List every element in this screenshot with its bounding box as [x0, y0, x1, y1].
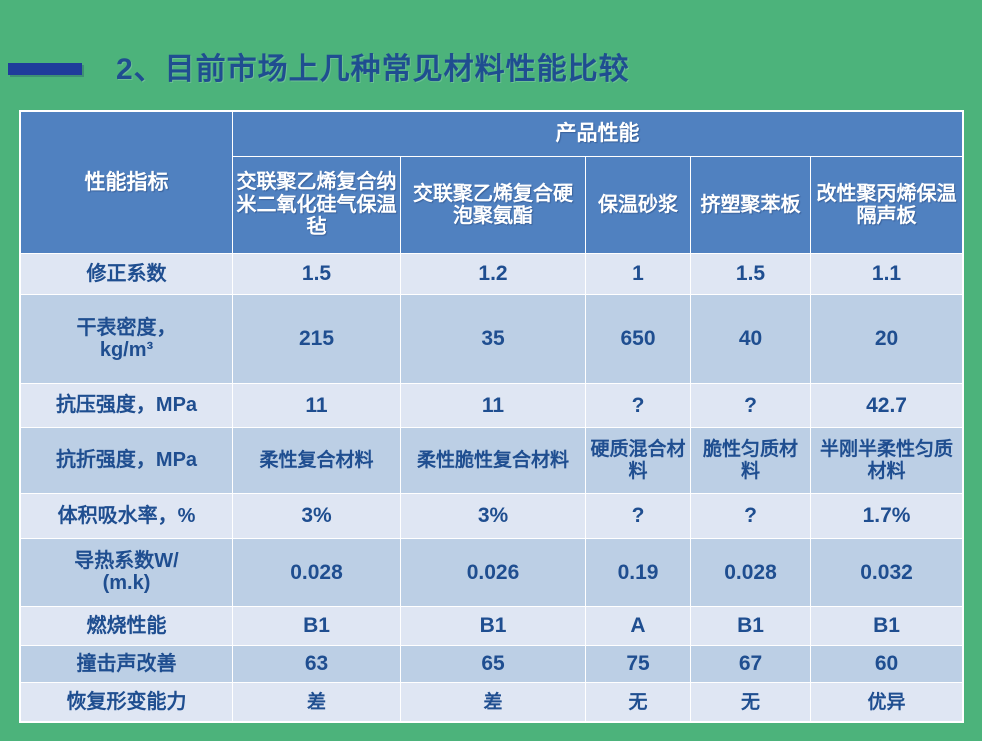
table-row: 抗压强度，MPa1111??42.7 — [21, 384, 963, 428]
table-row: 恢复形变能力差差无无优异 — [21, 683, 963, 722]
table-row: 修正系数1.51.211.51.1 — [21, 254, 963, 295]
table-cell: 脆性匀质材料 — [691, 427, 811, 493]
table-body: 修正系数1.51.211.51.1干表密度，kg/m³215356504020抗… — [21, 254, 963, 722]
table-cell: ? — [691, 384, 811, 428]
row-metric-label: 导热系数W/(m.k) — [21, 538, 233, 606]
table-cell: 0.19 — [586, 538, 691, 606]
table-cell: A — [586, 606, 691, 645]
table-cell: B1 — [401, 606, 586, 645]
header-col-5: 改性聚丙烯保温隔声板 — [811, 157, 963, 254]
table-cell: 1.2 — [401, 254, 586, 295]
header-col-2: 交联聚乙烯复合硬泡聚氨酯 — [401, 157, 586, 254]
table-cell: 63 — [233, 645, 401, 683]
row-metric-label: 干表密度，kg/m³ — [21, 294, 233, 384]
table-cell: 无 — [586, 683, 691, 722]
table-cell: 35 — [401, 294, 586, 384]
table-cell: 0.032 — [811, 538, 963, 606]
table-cell: B1 — [691, 606, 811, 645]
table-cell: 650 — [586, 294, 691, 384]
table-cell: 差 — [401, 683, 586, 722]
table-cell: 1 — [586, 254, 691, 295]
table-cell: 3% — [233, 494, 401, 539]
header-col-3: 保温砂浆 — [586, 157, 691, 254]
table-row: 燃烧性能B1B1AB1B1 — [21, 606, 963, 645]
table-cell: 0.028 — [691, 538, 811, 606]
row-metric-label: 燃烧性能 — [21, 606, 233, 645]
table-cell: 215 — [233, 294, 401, 384]
table-cell: 75 — [586, 645, 691, 683]
table-row: 撞击声改善6365756760 — [21, 645, 963, 683]
header-col-4: 挤塑聚苯板 — [691, 157, 811, 254]
title-row: 2、目前市场上几种常见材料性能比较 — [0, 48, 982, 96]
table-cell: 60 — [811, 645, 963, 683]
table-cell: 65 — [401, 645, 586, 683]
table-cell: ? — [691, 494, 811, 539]
row-metric-label: 修正系数 — [21, 254, 233, 295]
row-metric-label: 抗折强度，MPa — [21, 427, 233, 493]
table-cell: 3% — [401, 494, 586, 539]
row-metric-label: 体积吸水率，% — [21, 494, 233, 539]
table-cell: 柔性脆性复合材料 — [401, 427, 586, 493]
table-cell: ? — [586, 494, 691, 539]
table-cell: 无 — [691, 683, 811, 722]
header-col-1: 交联聚乙烯复合纳米二氧化硅气保温毡 — [233, 157, 401, 254]
table-cell: 柔性复合材料 — [233, 427, 401, 493]
table-cell: 67 — [691, 645, 811, 683]
table-cell: 40 — [691, 294, 811, 384]
row-metric-label: 恢复形变能力 — [21, 683, 233, 722]
table-cell: 1.5 — [691, 254, 811, 295]
row-metric-label: 抗压强度，MPa — [21, 384, 233, 428]
table-row: 抗折强度，MPa柔性复合材料柔性脆性复合材料硬质混合材料脆性匀质材料半刚半柔性匀… — [21, 427, 963, 493]
table-cell: 1.7% — [811, 494, 963, 539]
table-cell: ? — [586, 384, 691, 428]
table-cell: 半刚半柔性匀质材料 — [811, 427, 963, 493]
table-row: 导热系数W/(m.k)0.0280.0260.190.0280.032 — [21, 538, 963, 606]
table-cell: 11 — [233, 384, 401, 428]
table-header-group-row: 性能指标 产品性能 — [21, 112, 963, 157]
table-cell: 硬质混合材料 — [586, 427, 691, 493]
material-performance-table: 性能指标 产品性能 交联聚乙烯复合纳米二氧化硅气保温毡 交联聚乙烯复合硬泡聚氨酯… — [20, 111, 963, 722]
table-cell: 0.028 — [233, 538, 401, 606]
table-cell: 0.026 — [401, 538, 586, 606]
header-group-label: 产品性能 — [233, 112, 963, 157]
page-title: 2、目前市场上几种常见材料性能比较 — [116, 44, 630, 88]
table-cell: 42.7 — [811, 384, 963, 428]
table-cell: B1 — [233, 606, 401, 645]
table-row: 干表密度，kg/m³215356504020 — [21, 294, 963, 384]
table-cell: B1 — [811, 606, 963, 645]
table-cell: 20 — [811, 294, 963, 384]
slide-canvas: 2、目前市场上几种常见材料性能比较 性能指标 产品性能 交联聚乙烯复合纳米二氧化… — [0, 0, 982, 741]
table-cell: 11 — [401, 384, 586, 428]
row-metric-label: 撞击声改善 — [21, 645, 233, 683]
table-cell: 1.5 — [233, 254, 401, 295]
table-cell: 1.1 — [811, 254, 963, 295]
table-cell: 优异 — [811, 683, 963, 722]
table-head: 性能指标 产品性能 交联聚乙烯复合纳米二氧化硅气保温毡 交联聚乙烯复合硬泡聚氨酯… — [21, 112, 963, 254]
table-row: 体积吸水率，%3%3%??1.7% — [21, 494, 963, 539]
header-metric-label: 性能指标 — [21, 112, 233, 254]
title-accent-bar — [8, 63, 82, 75]
table-cell: 差 — [233, 683, 401, 722]
